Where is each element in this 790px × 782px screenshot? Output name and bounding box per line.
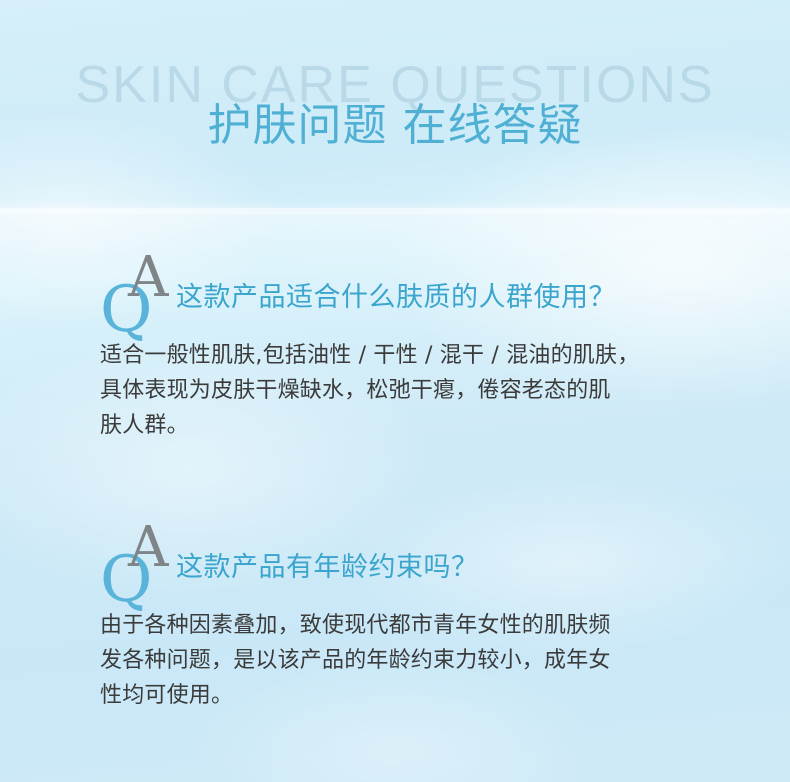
answer-line: 适合一般性肌肤,包括油性 / 干性 / 混干 / 混油的肌肤，	[100, 338, 700, 373]
answer-line: 发各种问题，是以该产品的年龄约束力较小，成年女	[100, 643, 700, 678]
letter-a-icon: A	[128, 520, 168, 576]
letter-a-icon: A	[128, 250, 168, 306]
qa-header: Q A 这款产品有年龄约束吗？	[0, 526, 790, 608]
qa-answer-text: 由于各种因素叠加，致使现代都市青年女性的肌肤频 发各种问题，是以该产品的年龄约束…	[100, 608, 700, 713]
qa-mark-icon: Q A	[100, 526, 178, 610]
qa-answer-text: 适合一般性肌肤,包括油性 / 干性 / 混干 / 混油的肌肤， 具体表现为皮肤干…	[100, 338, 700, 443]
answer-line: 具体表现为皮肤干燥缺水，松弛干瘪，倦容老态的肌	[100, 373, 700, 408]
page-header: SKIN CARE QUESTIONS 护肤问题 在线答疑	[0, 0, 790, 215]
answer-line: 由于各种因素叠加，致使现代都市青年女性的肌肤频	[100, 608, 700, 643]
qa-header: Q A 这款产品适合什么肤质的人群使用？	[0, 256, 790, 338]
answer-line: 肤人群。	[100, 408, 700, 443]
skincare-qa-page: SKIN CARE QUESTIONS 护肤问题 在线答疑 Q A 这款产品适合…	[0, 0, 790, 782]
page-title: 护肤问题 在线答疑	[0, 100, 790, 152]
qa-question-text: 这款产品有年龄约束吗？	[176, 552, 479, 584]
qa-question-text: 这款产品适合什么肤质的人群使用？	[176, 282, 616, 314]
qa-mark-icon: Q A	[100, 256, 178, 340]
qa-block: Q A 这款产品适合什么肤质的人群使用？ 适合一般性肌肤,包括油性 / 干性 /…	[0, 256, 790, 443]
qa-block: Q A 这款产品有年龄约束吗？ 由于各种因素叠加，致使现代都市青年女性的肌肤频 …	[0, 526, 790, 713]
answer-line: 性均可使用。	[100, 678, 700, 713]
